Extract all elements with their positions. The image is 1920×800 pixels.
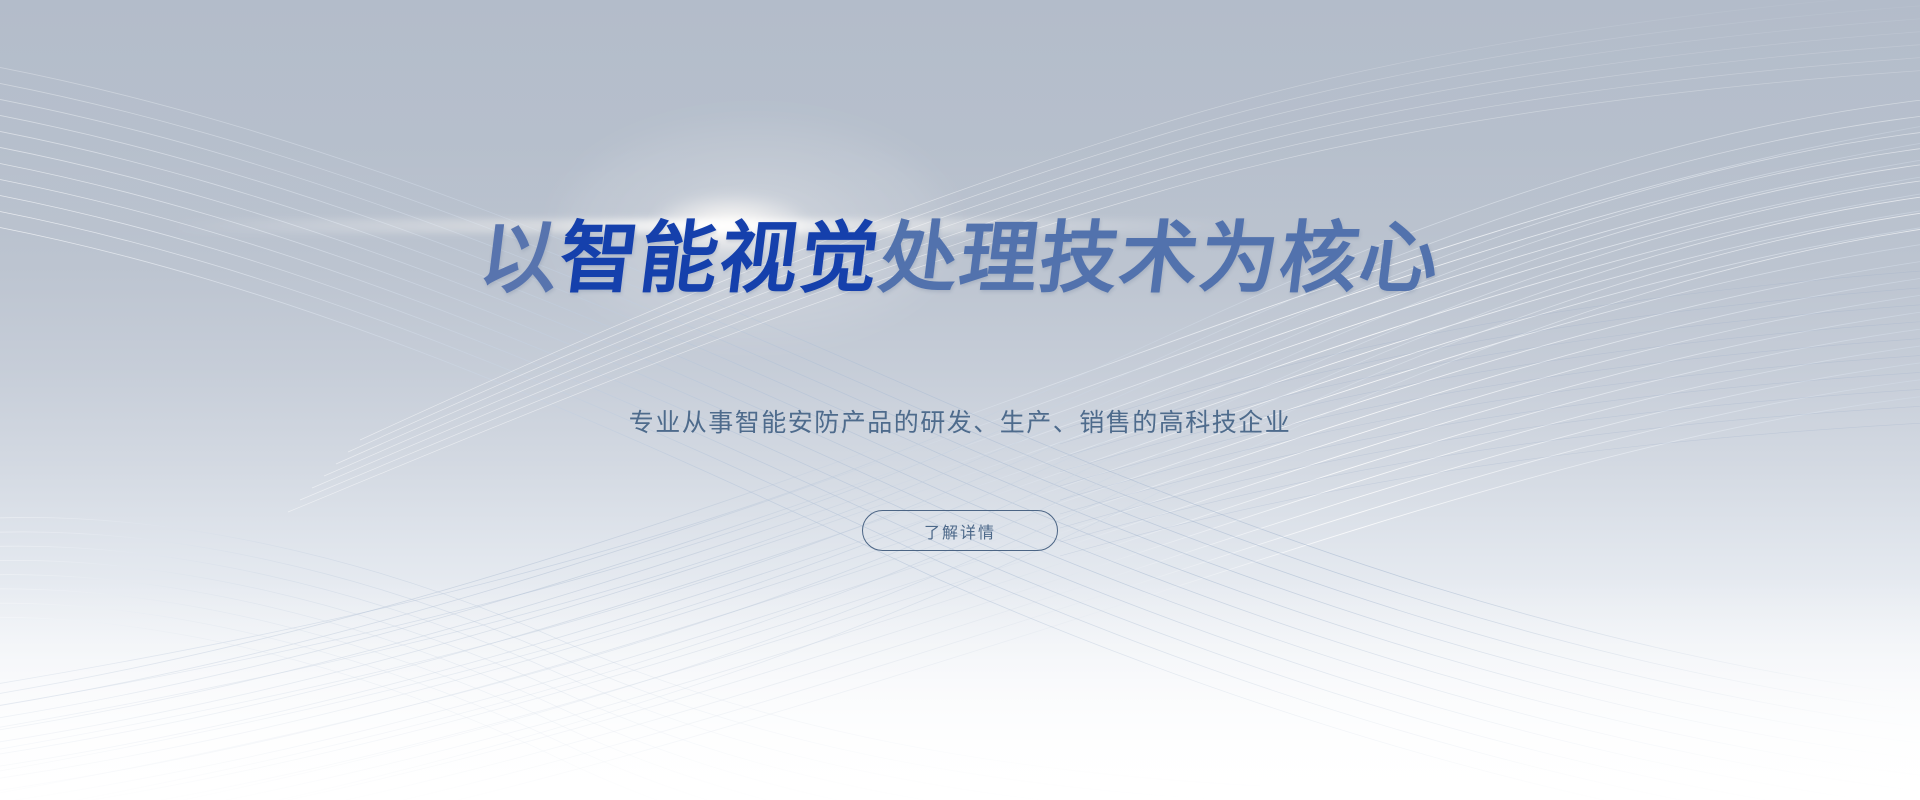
- cta-container: 了解详情: [0, 510, 1920, 551]
- hero-banner: 以智能视觉处理技术为核心 专业从事智能安防产品的研发、生产、销售的高科技企业 了…: [0, 0, 1920, 800]
- headline-segment-tail: 处理技术为核心: [875, 214, 1446, 304]
- learn-more-button[interactable]: 了解详情: [862, 510, 1058, 551]
- headline-segment-lead: 以: [474, 214, 565, 304]
- hero-content: 以智能视觉处理技术为核心 专业从事智能安防产品的研发、生产、销售的高科技企业 了…: [0, 0, 1920, 800]
- hero-headline: 以智能视觉处理技术为核心: [0, 214, 1920, 304]
- headline-segment-emphasis: 智能视觉: [554, 214, 885, 304]
- hero-subtitle: 专业从事智能安防产品的研发、生产、销售的高科技企业: [0, 403, 1920, 439]
